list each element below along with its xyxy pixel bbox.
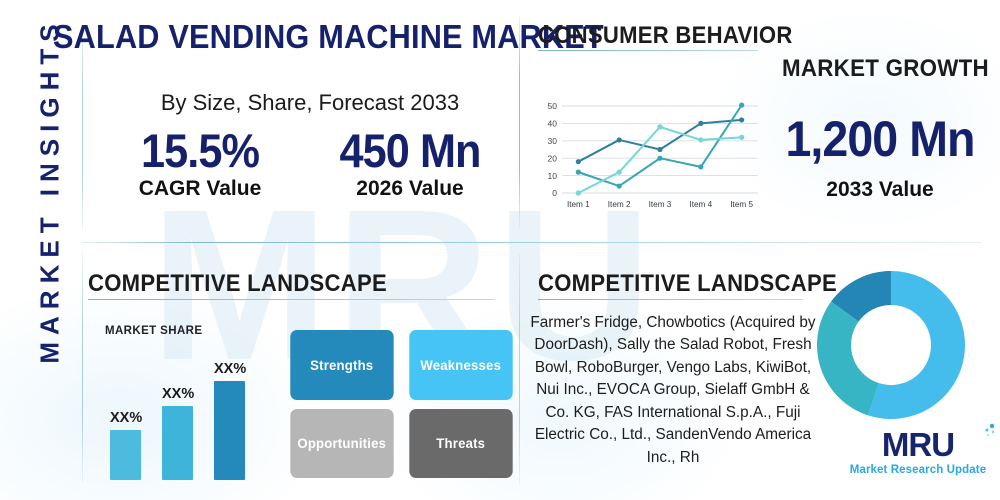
stat-2026-label: 2026 Value (305, 177, 515, 201)
market-share-bar-fill-1 (110, 430, 141, 480)
company-list-text: Farmer's Fridge, Chowbotics (Acquired by… (529, 312, 817, 469)
brand-logo: MRU Market Research Update (848, 428, 988, 476)
logo-mark-text: MRU (882, 428, 954, 461)
page-title: SALAD VENDING MACHINE MARKET (53, 18, 604, 56)
section-underline-consumer-behavior (538, 50, 758, 51)
stat-2026-value: 450 Mn (313, 126, 506, 176)
svg-text:30: 30 (548, 136, 558, 146)
section-heading-competitive-landscape-left: COMPETITIVE LANDSCAPE (88, 270, 387, 298)
svg-text:40: 40 (548, 119, 558, 129)
swot-box-opportunities[interactable]: Opportunities (290, 409, 393, 479)
market-growth-label: 2033 Value (770, 178, 990, 202)
stat-cagr-label: CAGR Value (95, 177, 305, 201)
market-share-bar-fill-2 (162, 406, 193, 480)
swot-grid: StrengthsWeaknessesOpportunitiesThreats (287, 330, 515, 478)
infographic-canvas: MRU MARKET INSIGHTS SALAD VENDING MACHIN… (0, 0, 1000, 500)
market-share-bar-label-2: XX% (162, 386, 193, 402)
consumer-behavior-line-chart: 01020304050Item 1Item 2Item 3Item 4Item … (536, 100, 766, 215)
donut-segment-2 (817, 302, 879, 416)
section-underline-competitive-landscape-left (88, 299, 495, 300)
key-stats-row: 15.5% CAGR Value 450 Mn 2026 Value (95, 126, 515, 201)
svg-text:20: 20 (548, 153, 558, 163)
svg-text:Item 2: Item 2 (608, 200, 631, 209)
page-subtitle: By Size, Share, Forecast 2033 (110, 90, 510, 116)
svg-text:50: 50 (548, 101, 558, 111)
svg-text:Item 3: Item 3 (649, 200, 672, 209)
swot-box-weaknesses[interactable]: Weaknesses (409, 330, 512, 400)
swot-box-strengths[interactable]: Strengths (290, 330, 393, 400)
competitive-landscape-donut-chart (812, 266, 970, 424)
market-share-bar-1: XX% (110, 410, 141, 480)
left-divider-bottom (82, 252, 83, 482)
market-growth-title: MARKET GROWTH (782, 55, 989, 83)
market-share-bar-3: XX% (214, 361, 245, 480)
section-underline-competitive-landscape-right (538, 299, 803, 300)
center-divider-bottom (519, 254, 520, 486)
market-share-bar-2: XX% (162, 386, 193, 480)
market-share-bar-fill-3 (214, 381, 245, 480)
svg-text:10: 10 (548, 171, 558, 181)
market-growth-value: 1,200 Mn (778, 110, 983, 168)
market-share-bar-label-1: XX% (110, 410, 141, 426)
svg-text:0: 0 (552, 188, 557, 198)
market-share-bar-label-3: XX% (214, 361, 245, 377)
stat-2026: 450 Mn 2026 Value (305, 126, 515, 201)
svg-text:Item 5: Item 5 (730, 200, 753, 209)
logo-tagline: Market Research Update (848, 464, 988, 476)
horizontal-divider (82, 242, 982, 243)
section-heading-competitive-landscape-right: COMPETITIVE LANDSCAPE (538, 270, 837, 298)
market-share-bar-chart: XX%XX%XX% (100, 330, 270, 480)
section-heading-consumer-behavior: CONSUMER BEHAVIOR (538, 22, 793, 50)
stat-cagr-value: 15.5% (103, 126, 296, 176)
side-vertical-label: MARKET INSIGHTS (35, 0, 66, 391)
swot-box-threats[interactable]: Threats (409, 409, 512, 479)
svg-text:Item 4: Item 4 (689, 200, 712, 209)
svg-text:Item 1: Item 1 (567, 200, 590, 209)
stat-cagr: 15.5% CAGR Value (95, 126, 305, 201)
logo-dots-icon (983, 423, 997, 441)
